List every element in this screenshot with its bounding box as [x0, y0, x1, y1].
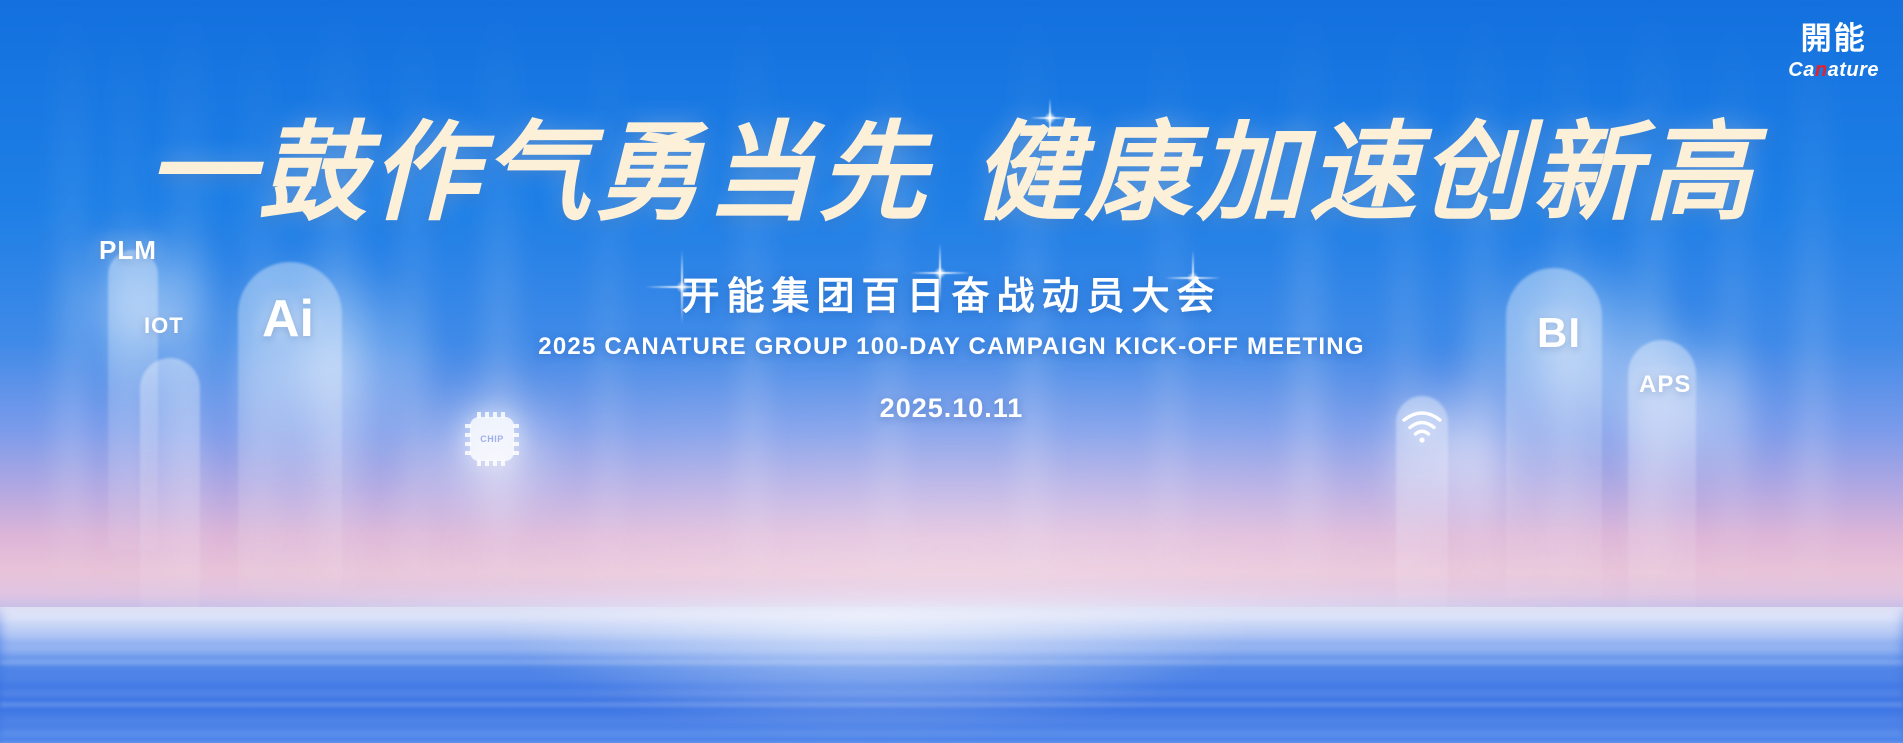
brand-logo-en-part2: ature [1828, 59, 1879, 81]
brand-logo-en-part1: Ca [1788, 59, 1815, 81]
brand-logo-en: Canature [1788, 60, 1879, 80]
event-banner: PLM IOT Ai CHIP BI APS 開能 Canature 一鼓作 [0, 0, 1903, 743]
event-date: 2025.10.11 [0, 393, 1903, 424]
brand-logo: 開能 Canature [1788, 24, 1879, 80]
page-title-right: 健康加速创新高 [973, 111, 1757, 236]
subtitle-english: 2025 CANATURE GROUP 100-DAY CAMPAIGN KIC… [0, 333, 1903, 361]
water-surface [0, 607, 1903, 743]
brand-logo-en-accent: n [1815, 59, 1828, 81]
subtitle-chinese: 开能集团百日奋战动员大会 [0, 265, 1903, 320]
pillar-aps [1628, 340, 1696, 610]
page-title-left: 一鼓作气勇当先 [146, 111, 930, 236]
page-title: 一鼓作气勇当先健康加速创新高 [0, 86, 1903, 242]
brand-logo-cn: 開能 [1788, 24, 1879, 55]
